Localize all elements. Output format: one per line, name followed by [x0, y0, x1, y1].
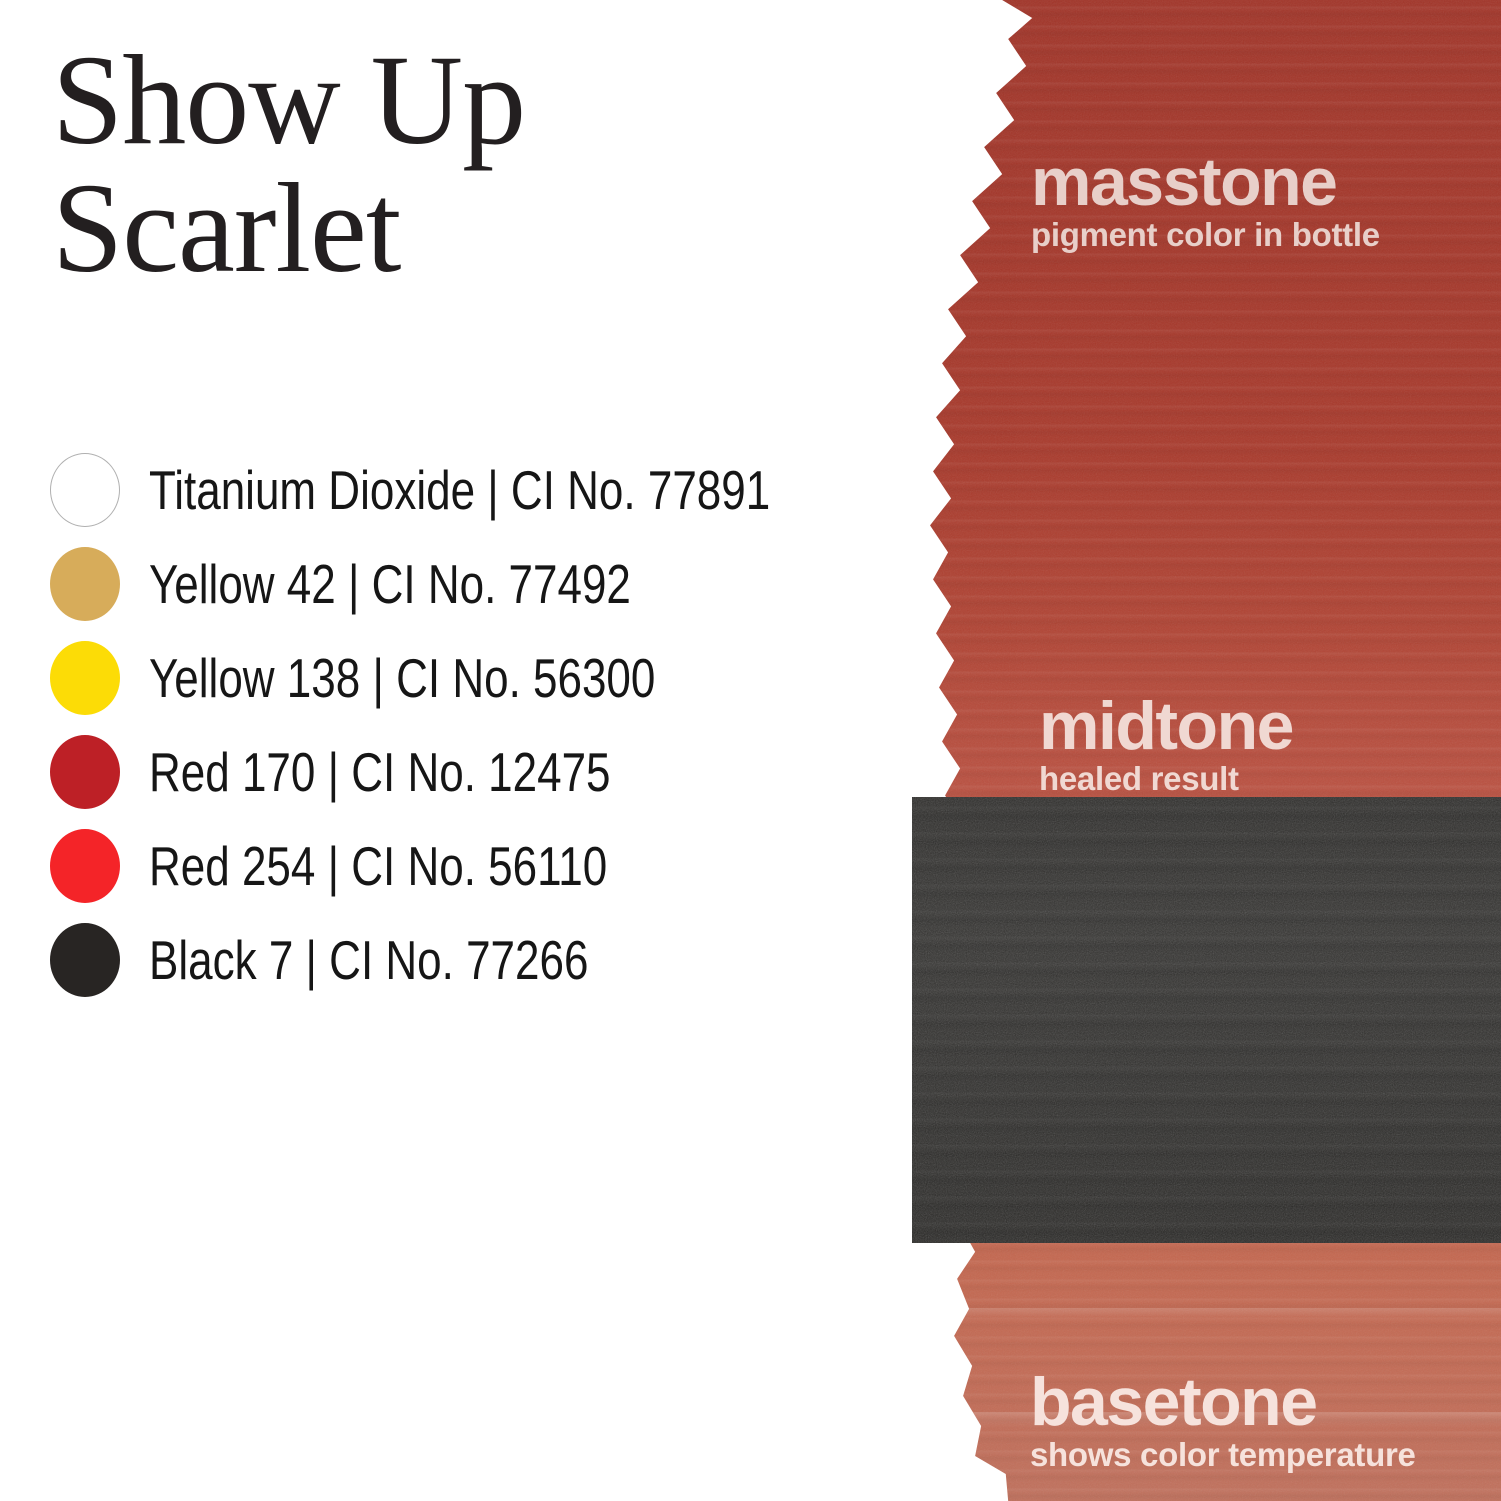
masstone-name: masstone [1031, 148, 1380, 216]
masstone-label-group: masstone pigment color in bottle [1031, 148, 1380, 254]
pigment-row: Yellow 42 | CI No. 77492 [50, 537, 880, 631]
pigment-label: Yellow 42 | CI No. 77492 [149, 555, 631, 613]
title-line-1: Show Up [52, 36, 732, 164]
pigment-row: Red 170 | CI No. 12475 [50, 725, 880, 819]
pigment-label: Yellow 138 | CI No. 56300 [149, 649, 655, 707]
page-title: Show Up Scarlet [52, 36, 732, 292]
midtone-label-group: midtone healed result [1039, 692, 1293, 798]
pigment-label: Titanium Dioxide | CI No. 77891 [149, 461, 770, 519]
pigment-label: Black 7 | CI No. 77266 [149, 931, 588, 989]
pigment-row: Titanium Dioxide | CI No. 77891 [50, 443, 880, 537]
title-line-2: Scarlet [52, 164, 732, 292]
pigment-color-dot [50, 829, 120, 903]
pigment-color-dot [50, 735, 120, 809]
pigment-color-dot [50, 453, 120, 527]
product-color-card: masstone pigment color in bottle midtone… [0, 0, 1501, 1501]
pigment-label: Red 254 | CI No. 56110 [149, 837, 607, 895]
midtone-description: healed result [1039, 760, 1293, 798]
pigment-row: Black 7 | CI No. 77266 [50, 913, 880, 1007]
basetone-name: basetone [1030, 1368, 1416, 1436]
pigment-list: Titanium Dioxide | CI No. 77891Yellow 42… [50, 443, 880, 1007]
pigment-color-dot [50, 641, 120, 715]
basetone-description: shows color temperature [1030, 1436, 1416, 1474]
pigment-color-dot [50, 923, 120, 997]
pigment-label: Red 170 | CI No. 12475 [149, 743, 611, 801]
black-patch-grain [912, 797, 1501, 1243]
masstone-description: pigment color in bottle [1031, 216, 1380, 254]
midtone-name: midtone [1039, 692, 1293, 760]
pigment-row: Yellow 138 | CI No. 56300 [50, 631, 880, 725]
pigment-row: Red 254 | CI No. 56110 [50, 819, 880, 913]
pigment-color-dot [50, 547, 120, 621]
black-paint-patch [912, 797, 1501, 1243]
basetone-label-group: basetone shows color temperature [1030, 1368, 1416, 1474]
